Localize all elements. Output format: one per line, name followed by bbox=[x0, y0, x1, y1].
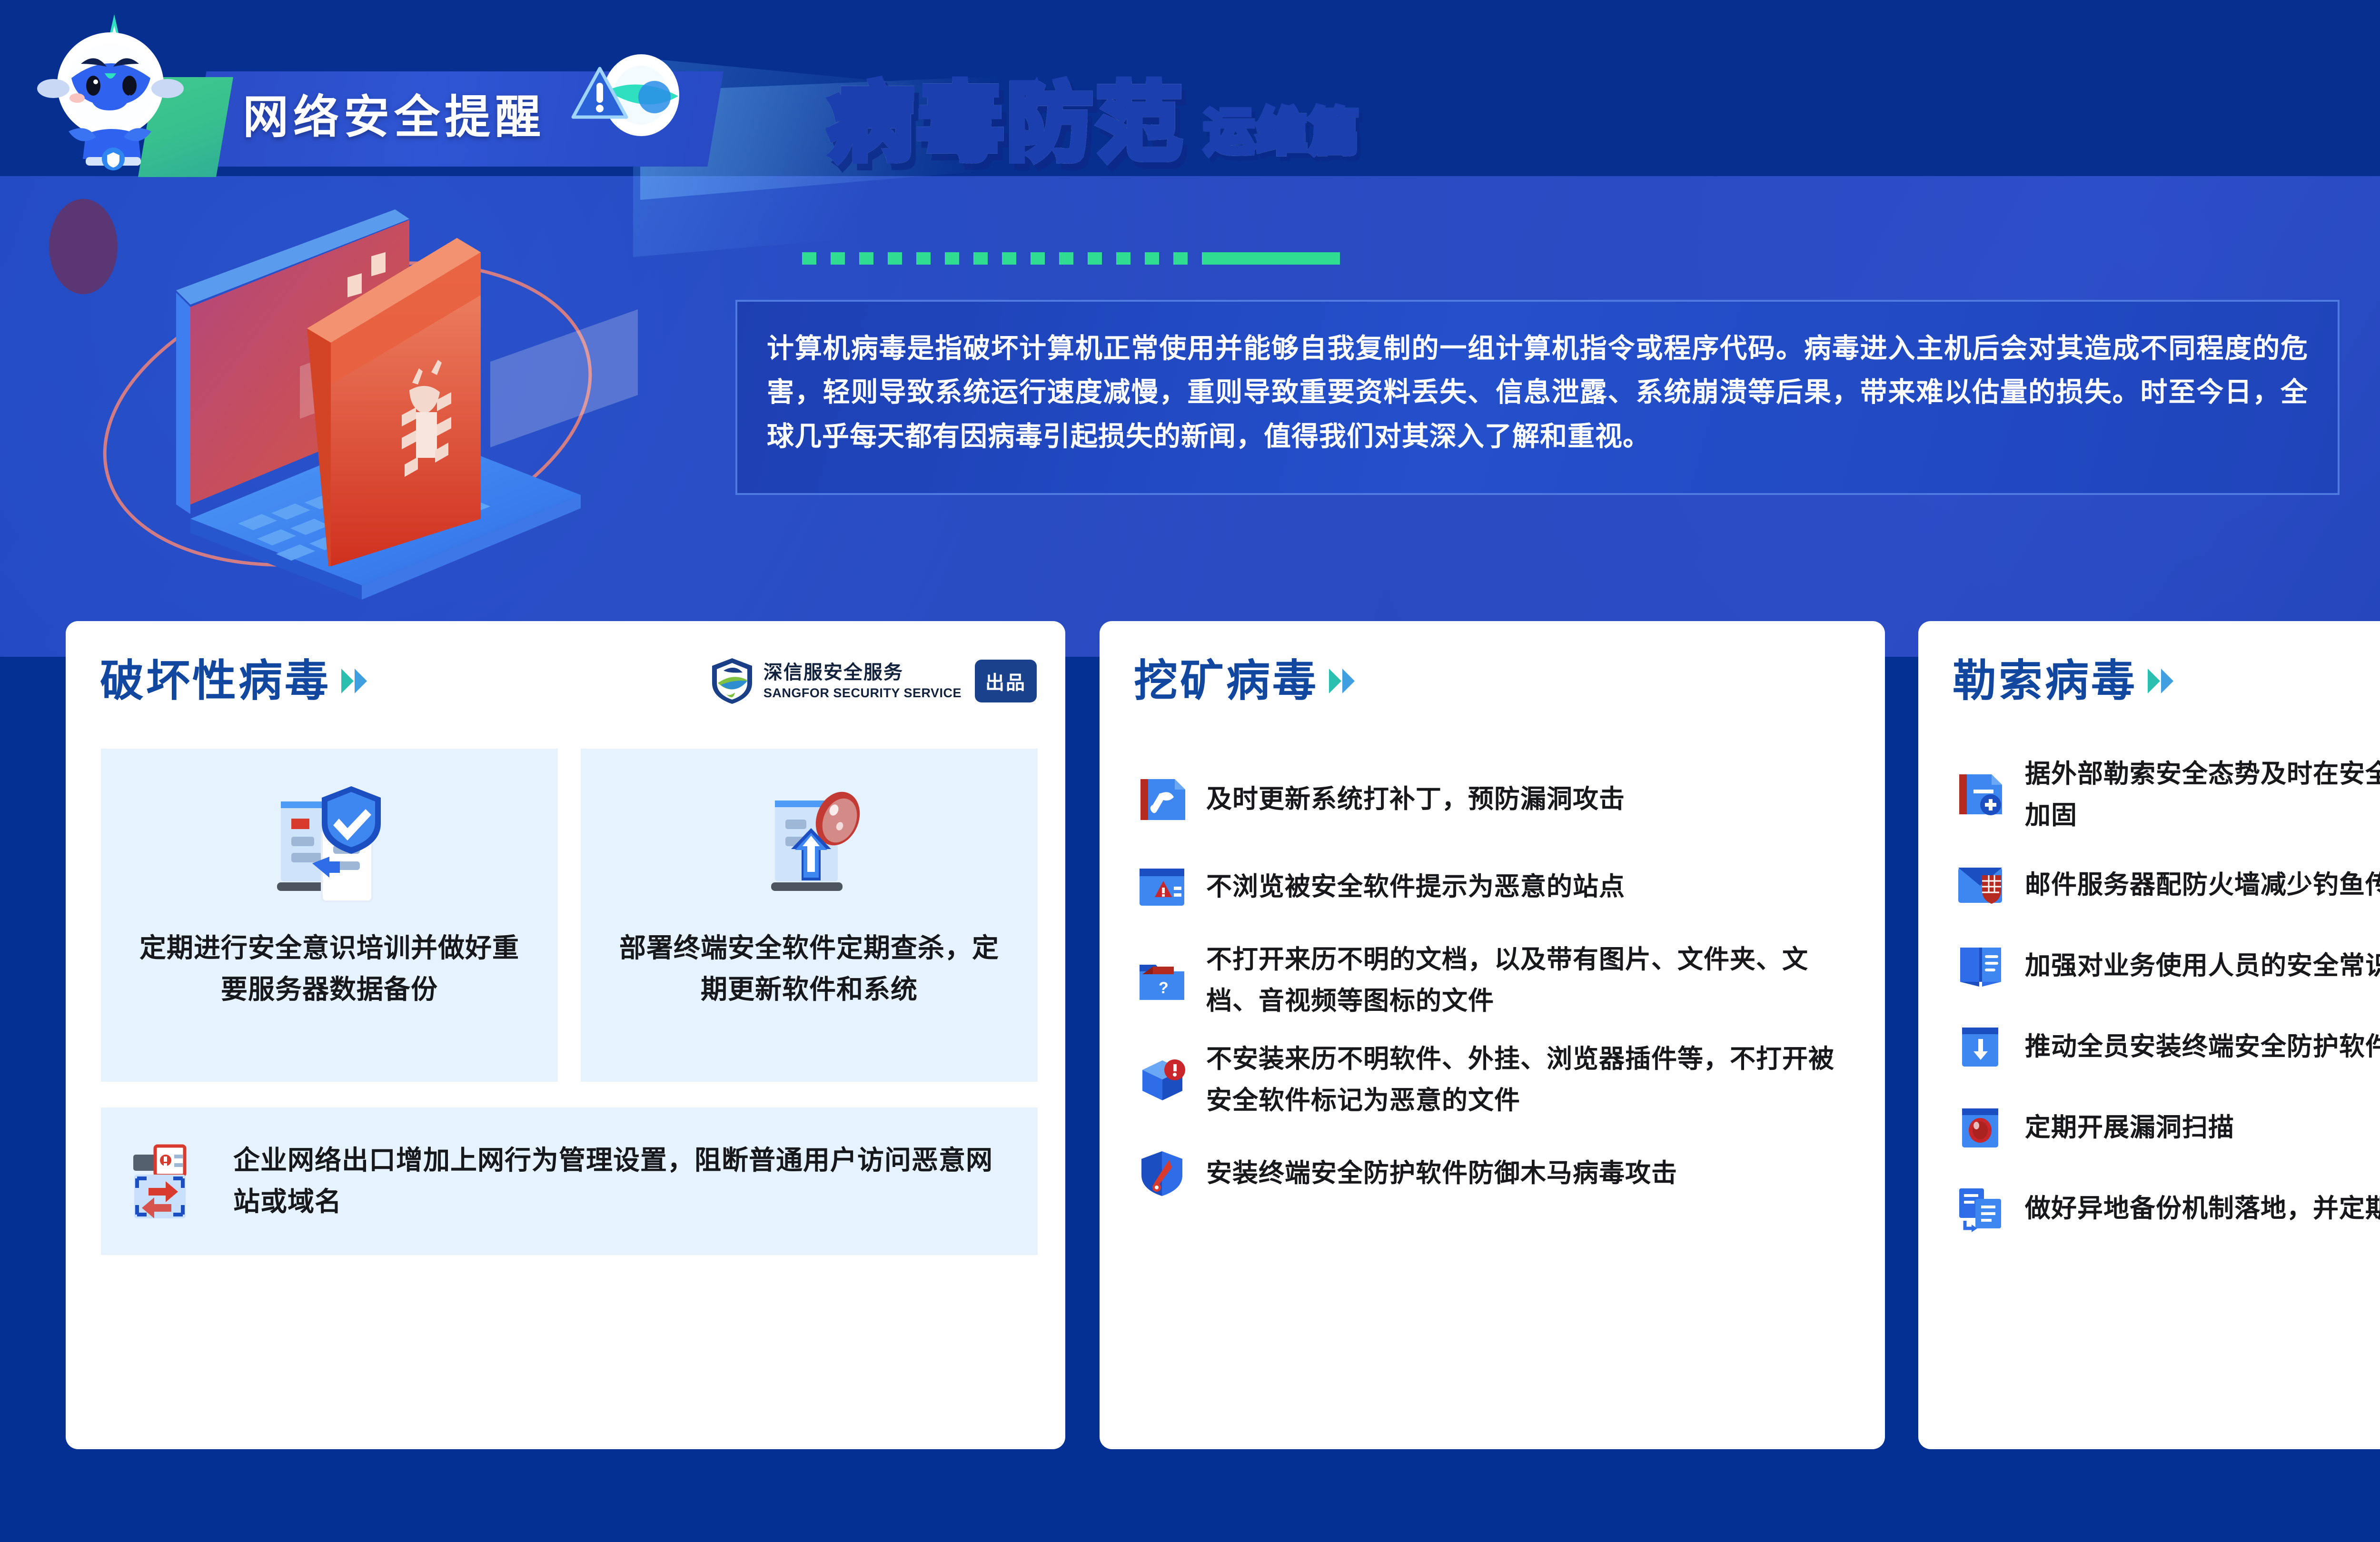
tile-caption: 定期进行安全意识培训并做好重要服务器数据备份 bbox=[139, 928, 520, 1010]
tile-item: 定期进行安全意识培训并做好重要服务器数据备份 bbox=[101, 749, 558, 1082]
header-title-text: 网络安全提醒 bbox=[243, 80, 545, 146]
card1-header: 破坏性病毒 bbox=[100, 659, 367, 703]
shield-sword-icon bbox=[1134, 1146, 1190, 1202]
list-item-text: 做好异地备份机制落地，并定期开展备份 bbox=[2025, 1188, 2380, 1229]
list-item-text: 定期开展漏洞扫描 bbox=[2025, 1107, 2234, 1148]
list-item-text: 不浏览被安全软件提示为恶意的站点 bbox=[1206, 866, 1625, 908]
card-destructive-virus: 破坏性病毒 深信服安全服务 SANGFOR SECURITY SERVICE 出… bbox=[66, 621, 1065, 1449]
list-item-text: 加强对业务使用人员的安全常识教育 bbox=[2025, 945, 2380, 987]
document-shield-check-icon bbox=[258, 766, 401, 923]
list-item-text: 安装终端安全防护软件防御木马病毒攻击 bbox=[1206, 1153, 1677, 1194]
list-item: 不安装来历不明软件、外挂、浏览器插件等，不打开被安全软件标记为恶意的文件 bbox=[1134, 1038, 1857, 1122]
laptop-virus-illustration bbox=[33, 190, 709, 609]
download-install-icon bbox=[1953, 1019, 2009, 1075]
card2-header: 挖矿病毒 bbox=[1134, 659, 1355, 703]
brand-chip: 出品 bbox=[975, 660, 1037, 702]
list-item: 安装终端安全防护软件防御木马病毒攻击 bbox=[1134, 1138, 1857, 1209]
mail-firewall-icon bbox=[1953, 857, 2009, 913]
patch-wrench-file-icon bbox=[1134, 771, 1190, 828]
brand-name-cn: 深信服安全服务 bbox=[764, 662, 962, 683]
list-item-text: 不安装来历不明软件、外挂、浏览器插件等，不打开被安全软件标记为恶意的文件 bbox=[1206, 1038, 1857, 1122]
brand-name-en: SANGFOR SECURITY SERVICE bbox=[764, 686, 962, 701]
card-mining-virus: 挖矿病毒 及时更新系统打补丁，预防漏洞攻击 bbox=[1100, 621, 1885, 1449]
list-item: 加强对业务使用人员的安全常识教育 bbox=[1953, 934, 2380, 998]
unknown-folder-icon: ? bbox=[1134, 952, 1190, 1008]
chevron-right-icon bbox=[2148, 669, 2173, 693]
list-item-text: 邮件服务器配防火墙减少钓鱼传播到内网 bbox=[2025, 864, 2380, 906]
intro-paragraph: 计算机病毒是指破坏计算机正常使用并能够自我复制的一组计算机指令或程序代码。病毒进… bbox=[767, 326, 2308, 458]
network-gateway-block-icon bbox=[127, 1137, 212, 1226]
main-subtitle-text: 运维篇 bbox=[1204, 108, 1361, 157]
card2-list: 及时更新系统打补丁，预防漏洞攻击 不浏览被安全软件提示为恶意的站点 bbox=[1134, 764, 1857, 1226]
list-item-text: 推动全员安装终端安全防护软件 bbox=[2025, 1026, 2380, 1068]
svg-text:?: ? bbox=[1159, 979, 1169, 997]
card1-tiles: 定期进行安全意识培训并做好重要服务器数据备份 bbox=[101, 749, 1038, 1082]
card2-title: 挖矿病毒 bbox=[1134, 659, 1319, 703]
poster-root: 网络安全提醒 病毒防范 运维篇 网络安全 宣传周 bbox=[0, 0, 2380, 1542]
list-item: 不浏览被安全软件提示为恶意的站点 bbox=[1134, 851, 1857, 923]
mascot bbox=[19, 7, 200, 173]
tile-caption: 部署终端安全软件定期查杀，定期更新软件和系统 bbox=[619, 928, 1000, 1010]
vulnerability-scan-icon bbox=[1953, 1100, 2009, 1156]
main-title: 病毒防范 运维篇 bbox=[828, 81, 1361, 166]
list-item-text: 及时更新系统打补丁，预防漏洞攻击 bbox=[1206, 779, 1625, 820]
card-ransomware-virus: 勒索病毒 据外部勒索安全态势及时在安全产品上进行安全策略加固 bbox=[1918, 621, 2380, 1449]
list-item: 推动全员安装终端安全防护软件 bbox=[1953, 1015, 2380, 1079]
offsite-backup-icon bbox=[1953, 1181, 2009, 1237]
tile-item: 部署终端安全软件定期查杀，定期更新软件和系统 bbox=[581, 749, 1038, 1082]
chevron-right-icon bbox=[341, 669, 367, 693]
list-item: 邮件服务器配防火墙减少钓鱼传播到内网 bbox=[1953, 853, 2380, 918]
warning-triangle-icon bbox=[571, 66, 628, 120]
brand-logo: 深信服安全服务 SANGFOR SECURITY SERVICE 出品 bbox=[709, 656, 1037, 706]
main-title-text: 病毒防范 bbox=[828, 81, 1186, 166]
list-item: 及时更新系统打补丁，预防漏洞攻击 bbox=[1134, 764, 1857, 835]
chevron-right-icon bbox=[1329, 669, 1355, 693]
policy-file-add-icon bbox=[1953, 767, 2009, 823]
card3-title: 勒索病毒 bbox=[1953, 659, 2137, 703]
mascot-icon bbox=[19, 7, 200, 173]
wide-tile-caption: 企业网络出口增加上网行为管理设置，阻断普通用户访问恶意网站或域名 bbox=[233, 1140, 1012, 1223]
brand-names: 深信服安全服务 SANGFOR SECURITY SERVICE bbox=[764, 662, 962, 701]
list-item-text: 据外部勒索安全态势及时在安全产品上进行安全策略加固 bbox=[2025, 753, 2380, 837]
list-item: 定期开展漏洞扫描 bbox=[1953, 1096, 2380, 1160]
card1-title: 破坏性病毒 bbox=[100, 659, 331, 703]
open-book-icon bbox=[1953, 938, 2009, 994]
list-item: 做好异地备份机制落地，并定期开展备份 bbox=[1953, 1176, 2380, 1241]
alert-box-icon bbox=[1134, 1052, 1190, 1108]
list-item: 据外部勒索安全态势及时在安全产品上进行安全策略加固 bbox=[1953, 753, 2380, 837]
title-dashed-rule bbox=[802, 252, 1340, 265]
intro-box: 计算机病毒是指破坏计算机正常使用并能够自我复制的一组计算机指令或程序代码。病毒进… bbox=[735, 300, 2340, 495]
warning-browser-icon bbox=[1134, 859, 1190, 915]
list-item-text: 不打开来历不明的文档，以及带有图片、文件夹、文档、音视频等图标的文件 bbox=[1206, 939, 1857, 1022]
document-upload-scan-icon bbox=[738, 766, 881, 923]
card1-wide-tile: 企业网络出口增加上网行为管理设置，阻断普通用户访问恶意网站或域名 bbox=[101, 1107, 1038, 1255]
card3-list: 据外部勒索安全态势及时在安全产品上进行安全策略加固 邮件服务器配防火墙减少钓鱼传… bbox=[1953, 753, 2380, 1257]
list-item: ? 不打开来历不明的文档，以及带有图片、文件夹、文档、音视频等图标的文件 bbox=[1134, 939, 1857, 1022]
sangfor-shield-icon bbox=[709, 656, 755, 706]
card3-header: 勒索病毒 bbox=[1953, 659, 2173, 703]
